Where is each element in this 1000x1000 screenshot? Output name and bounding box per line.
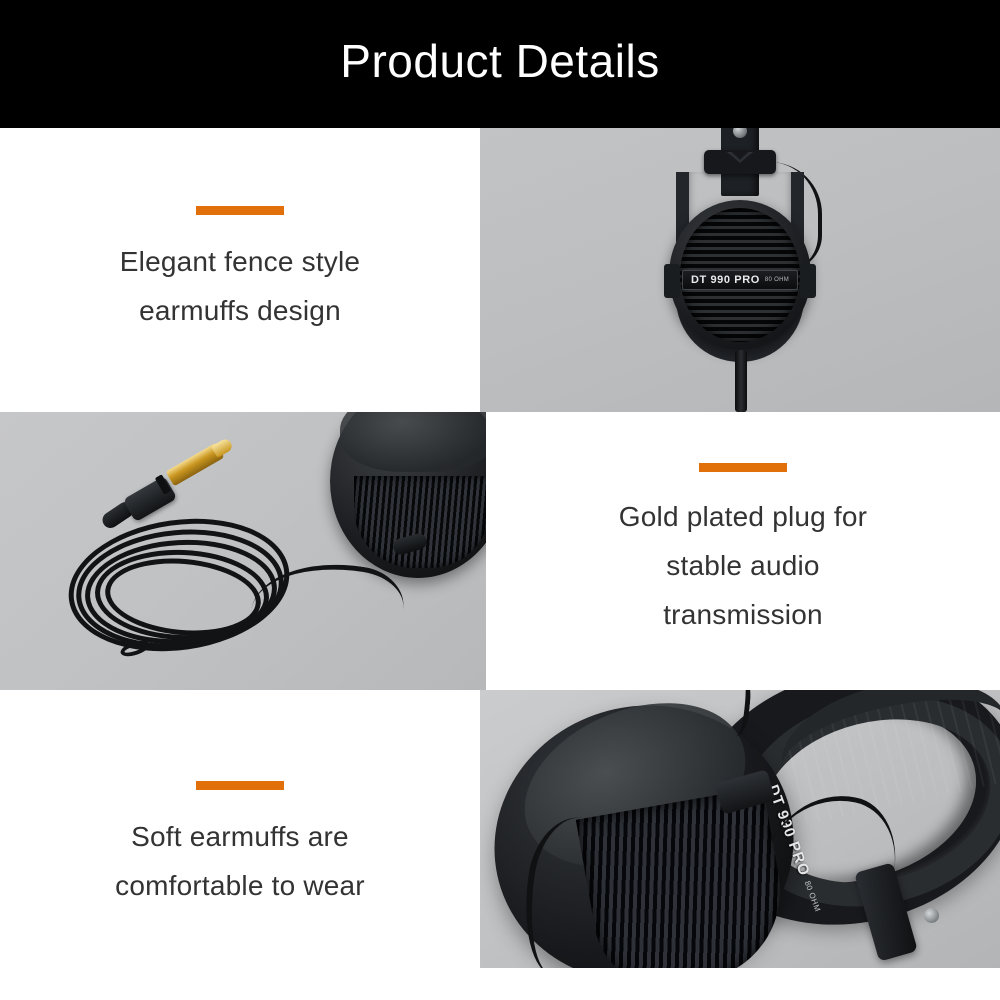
header-band: Product Details <box>0 0 1000 128</box>
plug-body <box>123 476 178 523</box>
cup-clip-left <box>664 264 680 298</box>
cable-plug-image <box>0 412 486 690</box>
page-title: Product Details <box>340 38 659 90</box>
orange-accent-bar <box>196 206 284 215</box>
feature-caption: Gold plated plug for stable audio transm… <box>619 492 867 639</box>
earpad-detail <box>340 412 486 472</box>
screw-icon <box>924 908 939 923</box>
headphone-angle-image: DT 990 PRO 80 OHM <box>480 690 1000 1000</box>
caption-line: comfortable to wear <box>115 861 365 910</box>
impedance-label-text: 80 OHM <box>765 277 789 283</box>
feature-caption: Elegant fence style earmuffs design <box>120 237 360 335</box>
orange-accent-bar <box>699 463 787 472</box>
cable-exit-detail <box>735 350 747 412</box>
feature-text-soft-earmuffs: Soft earmuffs are comfortable to wear <box>0 690 480 1000</box>
caption-line: transmission <box>619 590 867 639</box>
headphone-front-image: DT 990 PRO 80 OHM <box>480 128 1000 412</box>
feature-row-2: Gold plated plug for stable audio transm… <box>0 412 1000 690</box>
caption-line: Soft earmuffs are <box>115 812 365 861</box>
feature-caption: Soft earmuffs are comfortable to wear <box>115 812 365 910</box>
orange-accent-bar <box>196 781 284 790</box>
photo-headphone-angle: DT 990 PRO 80 OHM <box>480 690 1000 1000</box>
cup-clip-right <box>800 264 816 298</box>
caption-line: Elegant fence style <box>120 237 360 286</box>
product-details-page: Product Details Elegant fence style earm… <box>0 0 1000 1000</box>
photo-cable-plug <box>0 412 486 690</box>
feature-row-3: Soft earmuffs are comfortable to wear DT… <box>0 690 1000 1000</box>
photo-headphone-front: DT 990 PRO 80 OHM <box>480 128 1000 412</box>
caption-line: earmuffs design <box>120 286 360 335</box>
caption-line: Gold plated plug for <box>619 492 867 541</box>
caption-line: stable audio <box>619 541 867 590</box>
model-label: DT 990 PRO 80 OHM <box>682 270 798 290</box>
feature-row-1: Elegant fence style earmuffs design DT 9… <box>0 128 1000 412</box>
model-label-text: DT 990 PRO <box>691 274 760 286</box>
photo-bottom-margin <box>480 968 1000 1000</box>
feature-text-gold-plug: Gold plated plug for stable audio transm… <box>486 412 1000 690</box>
feature-text-earmuffs-design: Elegant fence style earmuffs design <box>0 128 480 412</box>
